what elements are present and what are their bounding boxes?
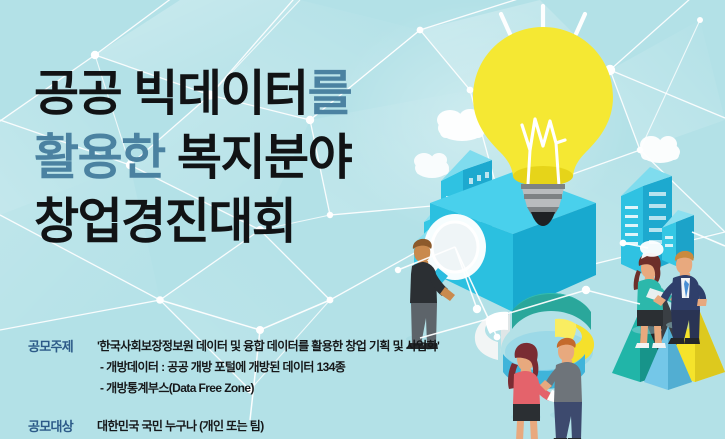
title-line-2: 활용한 복지분야 — [34, 126, 351, 190]
page-title: 공공 빅데이터를 활용한 복지분야 창업경진대회 — [34, 62, 351, 254]
info-row-target: 공모대상 대한민국 국민 누구나 (개인 또는 팀) — [28, 416, 388, 437]
poster-canvas: 공공 빅데이터를 활용한 복지분야 창업경진대회 공모주제 '한국사회보장정보원… — [0, 0, 725, 439]
title-line-3: 창업경진대회 — [34, 190, 351, 254]
target-value-text: 대한민국 국민 누구나 (개인 또는 팀) — [97, 416, 388, 437]
subject-bullet-2: - 개방통계부스(Data Free Zone) — [97, 378, 439, 399]
subject-label: 공모주제 — [28, 336, 90, 357]
target-values: 대한민국 국민 누구나 (개인 또는 팀) — [90, 416, 388, 437]
subject-values: '한국사회보장정보원 데이터 및 융합 데이터를 활용한 창업 기획 및 사업화… — [90, 336, 439, 399]
info-block: 공모주제 '한국사회보장정보원 데이터 및 융합 데이터를 활용한 창업 기획 … — [28, 336, 388, 437]
subject-bullet-1: - 개방데이터 : 공공 개방 포털에 개방된 데이터 134종 — [97, 357, 439, 378]
target-label: 공모대상 — [28, 416, 90, 437]
title-line-1-plain: 공공 빅데이터 — [34, 67, 308, 121]
title-line-2-plain: 복지분야 — [177, 131, 351, 185]
title-line-2-accent: 활용한 — [34, 131, 165, 185]
title-line-1-accent: 를 — [308, 67, 352, 121]
info-row-subject: 공모주제 '한국사회보장정보원 데이터 및 융합 데이터를 활용한 창업 기획 … — [28, 336, 388, 399]
pyramid-chart — [612, 290, 725, 390]
subject-main-text: '한국사회보장정보원 데이터 및 융합 데이터를 활용한 창업 기획 및 사업화… — [97, 336, 439, 357]
title-line-1: 공공 빅데이터를 — [34, 62, 351, 126]
